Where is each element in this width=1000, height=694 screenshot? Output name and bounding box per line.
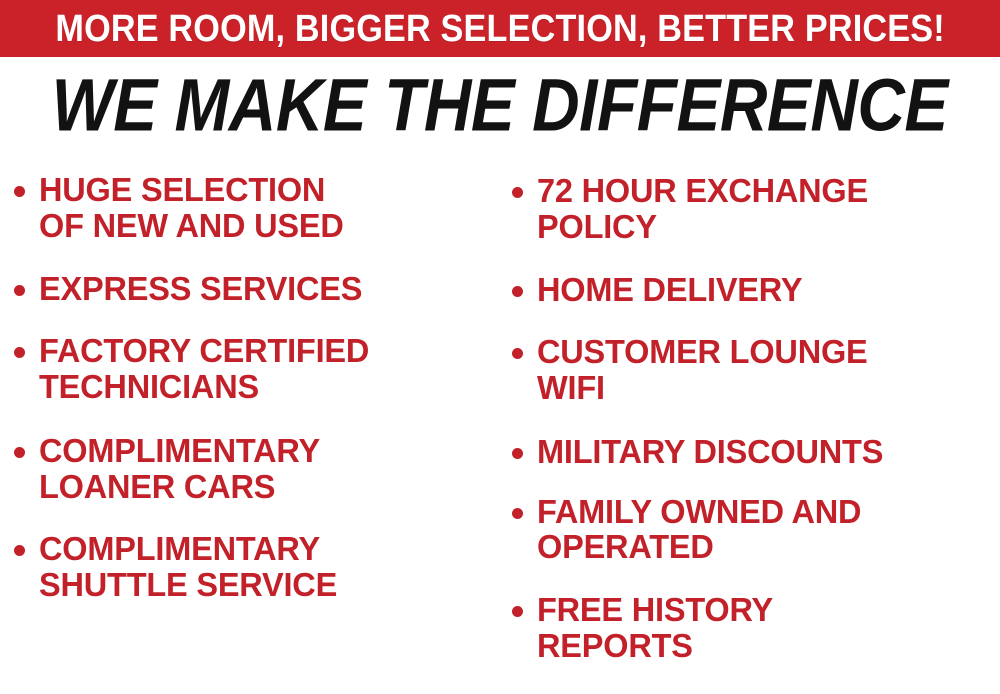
main-headline-container: WE MAKE THE DIFFERENCE — [0, 67, 1000, 143]
bullet-dot-icon — [14, 447, 25, 458]
list-item: FACTORY CERTIFIED TECHNICIANS — [14, 333, 500, 404]
list-item: EXPRESS SERVICES — [14, 271, 500, 307]
promotional-poster: MORE ROOM, BIGGER SELECTION, BETTER PRIC… — [0, 0, 1000, 694]
bullet-dot-icon — [14, 186, 25, 197]
bullet-dot-icon — [512, 448, 523, 459]
list-item-label: COMPLIMENTARY SHUTTLE SERVICE — [39, 531, 493, 602]
benefits-columns: HUGE SELECTION OF NEW AND USED EXPRESS S… — [0, 158, 1000, 694]
bullet-dot-icon — [512, 508, 523, 519]
banner-headline-text: MORE ROOM, BIGGER SELECTION, BETTER PRIC… — [55, 10, 944, 48]
benefits-column-right: 72 HOUR EXCHANGE POLICY HOME DELIVERY CU… — [512, 158, 1000, 663]
bullet-dot-icon — [14, 285, 25, 296]
list-item: COMPLIMENTARY SHUTTLE SERVICE — [14, 531, 500, 602]
list-item: MILITARY DISCOUNTS — [512, 434, 1000, 470]
list-item: HUGE SELECTION OF NEW AND USED — [14, 172, 500, 243]
list-item: FAMILY OWNED AND OPERATED — [512, 494, 1000, 565]
list-item: COMPLIMENTARY LOANER CARS — [14, 433, 500, 504]
top-banner: MORE ROOM, BIGGER SELECTION, BETTER PRIC… — [0, 0, 1000, 57]
list-item-label: HOME DELIVERY — [537, 272, 993, 308]
list-item-label: EXPRESS SERVICES — [39, 271, 493, 307]
list-item-label: FACTORY CERTIFIED TECHNICIANS — [39, 333, 493, 404]
list-item-label: FAMILY OWNED AND OPERATED — [537, 494, 993, 565]
list-item-label: CUSTOMER LOUNGE WIFI — [537, 334, 993, 405]
list-item-label: COMPLIMENTARY LOANER CARS — [39, 433, 493, 504]
list-item: FREE HISTORY REPORTS — [512, 592, 1000, 663]
bullet-dot-icon — [14, 347, 25, 358]
bullet-dot-icon — [512, 348, 523, 359]
list-item-label: 72 HOUR EXCHANGE POLICY — [537, 173, 993, 244]
list-item-label: HUGE SELECTION OF NEW AND USED — [39, 172, 493, 243]
list-item-label: MILITARY DISCOUNTS — [537, 434, 993, 470]
benefits-column-left: HUGE SELECTION OF NEW AND USED EXPRESS S… — [14, 158, 500, 603]
main-headline-text: WE MAKE THE DIFFERENCE — [52, 68, 948, 142]
bullet-dot-icon — [512, 187, 523, 198]
list-item: 72 HOUR EXCHANGE POLICY — [512, 173, 1000, 244]
bullet-dot-icon — [14, 545, 25, 556]
list-item: HOME DELIVERY — [512, 272, 1000, 308]
bullet-dot-icon — [512, 606, 523, 617]
bullet-dot-icon — [512, 286, 523, 297]
list-item-label: FREE HISTORY REPORTS — [537, 592, 993, 663]
list-item: CUSTOMER LOUNGE WIFI — [512, 334, 1000, 405]
